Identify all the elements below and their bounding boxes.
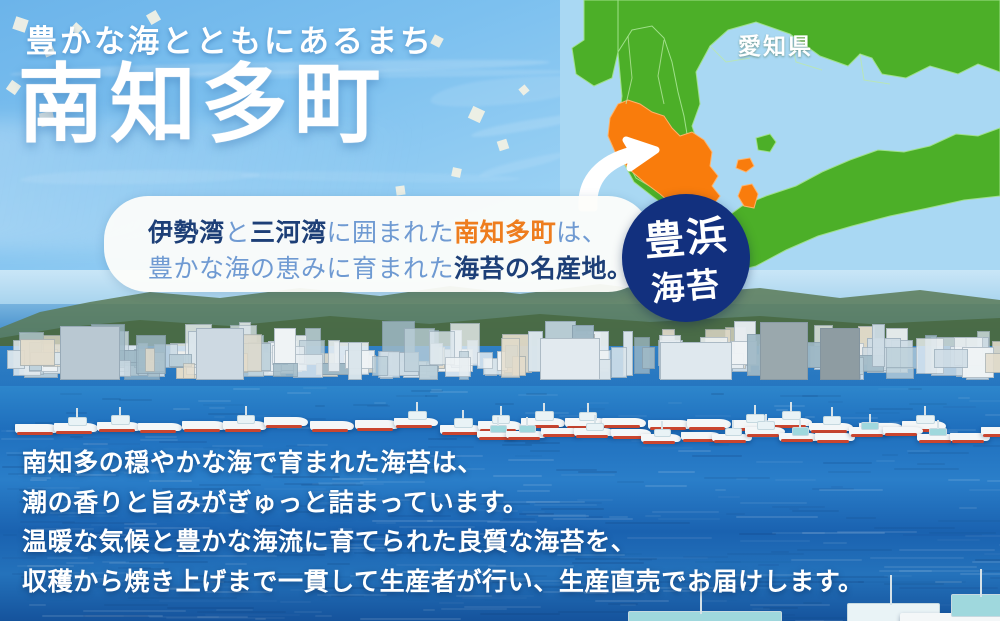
boat-cabin <box>782 411 801 420</box>
fishing-boat <box>264 410 308 452</box>
lead-text-run: 豊かな海の恵みに育まれた <box>148 254 454 283</box>
boat-waterline <box>140 430 176 433</box>
boat-waterline <box>225 429 261 432</box>
lead-text-run: 三河湾 <box>250 218 327 247</box>
boat-mast <box>831 407 833 417</box>
photo-building-large <box>60 326 120 380</box>
water-ripple <box>197 611 286 613</box>
water-ripple <box>303 387 327 389</box>
water-ripple <box>943 406 976 408</box>
boat-mast <box>790 402 792 412</box>
boat-mast <box>526 417 528 425</box>
boat-waterline <box>184 429 220 432</box>
boat-mast <box>661 421 663 429</box>
lead-text-run: は、 <box>556 218 607 247</box>
water-ripple <box>969 400 1000 402</box>
confetti-square <box>395 185 405 195</box>
body-copy-line: 南知多の穏やかな海で育まれた海苔は、 <box>22 448 982 479</box>
boat-mast <box>76 408 78 418</box>
boat-waterline <box>357 428 393 431</box>
water-ripple <box>441 608 508 610</box>
boat-waterline <box>396 425 432 428</box>
boat-mast <box>119 407 121 417</box>
boat-cabin <box>68 417 87 426</box>
water-ripple <box>197 616 248 618</box>
lead-text-run: 南知多町 <box>454 218 556 247</box>
photo-building <box>611 347 627 378</box>
water-ripple <box>958 397 970 399</box>
photo-building <box>872 324 885 367</box>
boat-cabin <box>757 421 774 429</box>
boat-mast <box>754 405 756 415</box>
water-ripple <box>287 392 310 394</box>
boat-mast <box>543 403 545 413</box>
water-ripple <box>216 609 253 611</box>
lead-text-run: と <box>225 218 251 247</box>
boat-cabin <box>792 427 809 435</box>
photo-building <box>985 353 1000 373</box>
water-ripple <box>425 395 437 397</box>
water-ripple <box>198 400 230 402</box>
boat-waterline <box>576 435 608 438</box>
water-ripple <box>985 414 1000 416</box>
body-copy: 南知多の穏やかな海で育まれた海苔は、潮の香りと旨みがぎゅっと詰まっています。温暖… <box>22 448 982 606</box>
boat-waterline <box>56 431 92 434</box>
water-ripple <box>495 403 514 405</box>
water-ripple <box>430 391 468 393</box>
photo-building-large <box>540 338 600 380</box>
boat-mast <box>732 420 734 428</box>
boat-waterline <box>919 440 951 443</box>
boat-cabin <box>490 425 507 433</box>
boat-waterline <box>312 429 348 432</box>
water-ripple <box>780 395 818 397</box>
boat-mast <box>245 406 247 416</box>
water-ripple <box>83 610 186 612</box>
water-ripple <box>3 534 17 536</box>
water-ripple <box>102 398 121 400</box>
boat-waterline <box>817 440 849 443</box>
lead-banner: 伊勢湾と三河湾に囲まれた南知多町は、 豊かな海の恵みに育まれた海苔の名産地。 <box>104 196 652 292</box>
lead-banner-line-1: 伊勢湾と三河湾に囲まれた南知多町は、 <box>148 213 607 249</box>
water-ripple <box>990 577 1000 579</box>
boat-mast <box>462 410 464 420</box>
boat-waterline <box>714 440 746 443</box>
lead-banner-line-2: 豊かな海の恵みに育まれた海苔の名産地。 <box>148 249 633 285</box>
water-ripple <box>855 412 901 414</box>
water-ripple <box>203 404 244 406</box>
photo-building <box>886 367 914 380</box>
boat-mast <box>587 403 589 413</box>
photo-building <box>477 352 493 369</box>
photo-building <box>119 360 132 377</box>
water-ripple <box>908 388 922 390</box>
photo-building <box>642 347 656 369</box>
boat-waterline <box>683 439 715 442</box>
boat-mast <box>594 415 596 423</box>
water-ripple <box>396 395 428 397</box>
water-ripple <box>85 615 124 617</box>
boat-mast <box>416 402 418 412</box>
boat-cabin <box>535 411 554 420</box>
boat-waterline <box>266 425 302 428</box>
boat-waterline <box>983 434 1000 437</box>
boat-cabin <box>454 418 473 427</box>
water-ripple <box>984 553 1000 555</box>
photo-building-large <box>760 322 808 380</box>
boat-mast <box>500 406 502 416</box>
boat-waterline <box>885 433 917 436</box>
page-title: 南知多町 <box>18 62 386 150</box>
water-ripple <box>878 388 910 390</box>
water-ripple <box>233 388 260 390</box>
fishing-boat <box>394 410 438 452</box>
boat-mast <box>799 420 801 428</box>
boat-waterline <box>781 439 813 442</box>
boat-mast <box>765 414 767 422</box>
photo-building <box>273 363 298 377</box>
photo-building <box>328 340 340 372</box>
water-ripple <box>173 408 190 410</box>
water-ripple <box>367 405 390 407</box>
water-ripple <box>119 399 152 401</box>
lead-text-run: に囲まれた <box>327 218 455 247</box>
fishing-boat <box>981 421 1000 461</box>
boat-cabin <box>111 415 130 424</box>
boat-cabin <box>628 611 782 621</box>
photo-building-large <box>196 328 244 380</box>
boat-cabin <box>861 422 878 430</box>
water-ripple <box>828 401 842 403</box>
photo-building <box>183 363 195 379</box>
boat-cabin <box>654 429 671 437</box>
boat-waterline <box>17 432 53 435</box>
boat-waterline <box>613 436 645 439</box>
boat-cabin <box>929 428 946 436</box>
boat-cabin <box>725 428 742 436</box>
water-ripple <box>668 402 682 404</box>
toyohama-nori-badge: 豊浜 海苔 <box>622 194 750 322</box>
photo-building-large <box>820 328 860 380</box>
water-ripple <box>315 615 333 617</box>
water-ripple <box>711 393 724 395</box>
photo-building <box>20 339 56 367</box>
water-ripple <box>315 405 325 407</box>
boat-cabin <box>492 415 511 424</box>
boat-waterline <box>952 440 984 443</box>
photo-building <box>145 348 156 372</box>
boat-mast <box>869 414 871 422</box>
boat-cabin <box>519 425 536 433</box>
boat-cabin <box>586 423 603 431</box>
lead-text-run: 海苔の名産地。 <box>454 254 633 283</box>
water-ripple <box>869 408 913 410</box>
boat-mast <box>497 417 499 425</box>
water-ripple <box>360 618 461 620</box>
photo-building <box>274 328 296 365</box>
boat-waterline <box>442 432 478 435</box>
water-ripple <box>294 611 321 613</box>
photo-town-buildings <box>0 304 1000 378</box>
water-ripple <box>526 393 547 395</box>
photo-building <box>445 357 471 378</box>
map-prefecture-label: 愛知県 <box>738 27 813 61</box>
boat-waterline <box>747 434 779 437</box>
photo-building <box>419 365 438 380</box>
lead-text-run: 伊勢湾 <box>148 218 225 247</box>
boat-waterline <box>99 429 135 432</box>
boat-waterline <box>543 434 575 437</box>
water-ripple <box>987 480 1000 482</box>
confetti-square <box>451 167 462 178</box>
boat-cabin <box>823 416 842 425</box>
water-ripple <box>167 607 254 609</box>
photo-building-large <box>660 342 732 380</box>
boat-waterline <box>851 434 883 437</box>
body-copy-line: 収穫から焼き上げまで一貫して生産者が行い、生産直売でお届けします。 <box>22 567 982 598</box>
photo-building <box>348 342 362 380</box>
photo-building <box>501 338 521 378</box>
water-ripple <box>423 609 436 611</box>
boat-waterline <box>643 441 675 444</box>
water-ripple <box>209 407 225 409</box>
boat-cabin <box>237 415 256 424</box>
body-copy-line: 潮の香りと旨みがぎゅっと詰まっています。 <box>22 488 982 519</box>
boat-cabin <box>408 411 427 420</box>
photo-building <box>934 349 968 368</box>
water-ripple <box>586 402 609 404</box>
boat-mast <box>924 406 926 416</box>
water-ripple <box>909 403 947 405</box>
promo-banner-root: 愛知県 豊かな海とともにあるまち 南知多町 伊勢湾と三河湾に囲まれた南知多町は、… <box>0 0 1000 621</box>
boat-mast <box>937 420 939 428</box>
boat-waterline <box>508 437 540 440</box>
water-ripple <box>60 393 82 395</box>
photo-building <box>372 356 388 376</box>
body-copy-line: 温暖な気候と豊かな海流に育てられた良質な海苔を、 <box>22 527 982 558</box>
